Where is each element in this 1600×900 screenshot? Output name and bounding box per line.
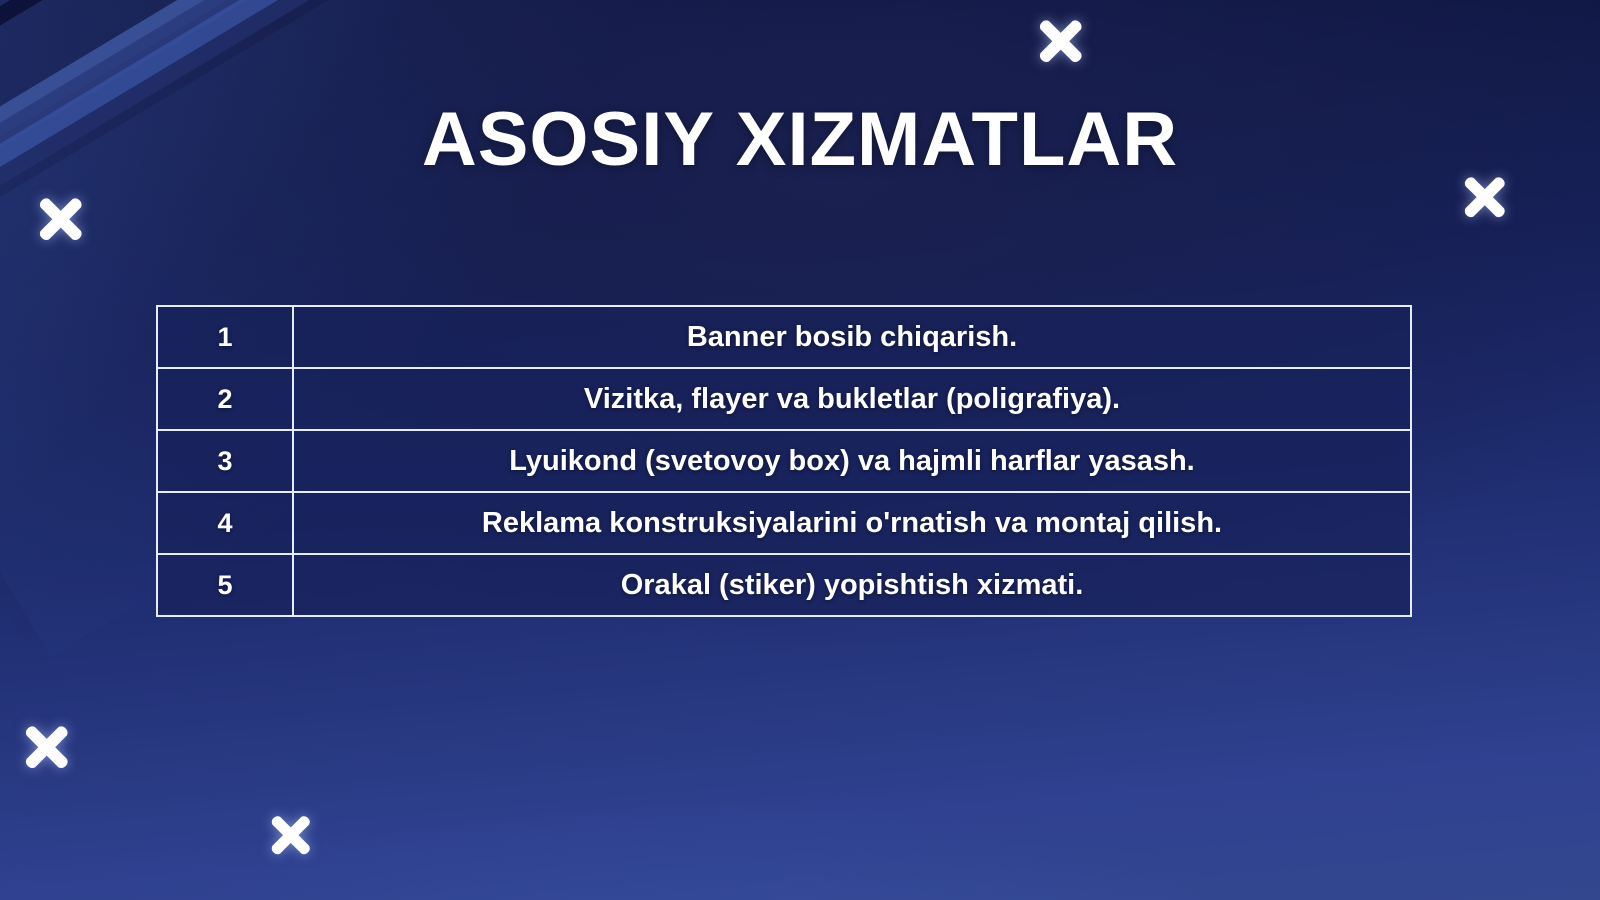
services-table-body: 1Banner bosib chiqarish.2Vizitka, flayer…: [157, 306, 1411, 616]
row-number-cell: 2: [157, 368, 293, 430]
sparkle-cross-bottom-left-icon: [24, 724, 70, 770]
service-label-cell: Orakal (stiker) yopishtish xizmati.: [293, 554, 1411, 616]
table-row: 3Lyuikond (svetovoy box) va hajmli harfl…: [157, 430, 1411, 492]
service-label-cell: Banner bosib chiqarish.: [293, 306, 1411, 368]
service-label-cell: Reklama konstruksiyalarini o'rnatish va …: [293, 492, 1411, 554]
table-row: 1Banner bosib chiqarish.: [157, 306, 1411, 368]
sparkle-cross-bottom-mid-icon: [270, 814, 312, 856]
row-number-cell: 5: [157, 554, 293, 616]
row-number-cell: 3: [157, 430, 293, 492]
services-table: 1Banner bosib chiqarish.2Vizitka, flayer…: [156, 305, 1412, 617]
service-label-cell: Lyuikond (svetovoy box) va hajmli harfla…: [293, 430, 1411, 492]
slide-canvas: ASOSIY XIZMATLAR 1Banner bosib chiqarish…: [0, 0, 1600, 900]
sparkle-cross-left-icon: [38, 196, 84, 242]
page-title: ASOSIY XIZMATLAR: [0, 96, 1600, 183]
row-number-cell: 1: [157, 306, 293, 368]
table-row: 2Vizitka, flayer va bukletlar (poligrafi…: [157, 368, 1411, 430]
service-label-cell: Vizitka, flayer va bukletlar (poligrafiy…: [293, 368, 1411, 430]
row-number-cell: 4: [157, 492, 293, 554]
sparkle-cross-top-center-icon: [1038, 18, 1084, 64]
table-row: 5Orakal (stiker) yopishtish xizmati.: [157, 554, 1411, 616]
background-bottom-glow: [0, 600, 1600, 900]
table-row: 4Reklama konstruksiyalarini o'rnatish va…: [157, 492, 1411, 554]
